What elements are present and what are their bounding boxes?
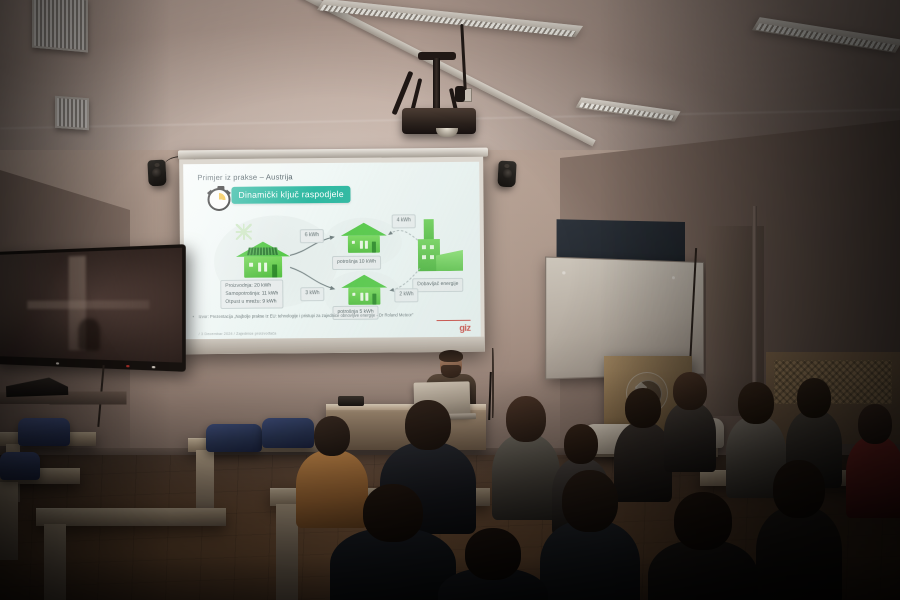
- audience-member: [756, 460, 842, 600]
- slide-title: Primjer iz prakse – Austrija: [197, 172, 293, 182]
- projection-screen: Primjer iz prakse – Austrija Dinamički k…: [179, 157, 485, 355]
- tv-person-reflection: [78, 318, 100, 351]
- flow-label-2kwh: 2 kWh: [394, 288, 418, 302]
- flow-label-6kwh: 6 kWh: [300, 229, 324, 243]
- wall-mounted-tv: [0, 244, 186, 372]
- projected-slide: Primjer iz prakse – Austrija Dinamički k…: [183, 162, 481, 340]
- energy-supplier-icon: [416, 219, 464, 271]
- hvac-vent-icon: [55, 96, 89, 130]
- sun-icon: [236, 224, 252, 240]
- speaker-left: [147, 160, 166, 187]
- footnote-bullet: •: [193, 314, 195, 319]
- desk-leg: [0, 482, 18, 560]
- slide-badge: Dinamički ključ raspodjele: [231, 186, 351, 204]
- consumer-house-1-icon: [341, 223, 387, 253]
- tv-screen: [0, 248, 182, 363]
- hvac-vent-icon: [32, 0, 88, 52]
- producer-house-icon: [236, 241, 290, 277]
- flow-label-4kwh: 4 kWh: [392, 214, 416, 228]
- logo-rule: [437, 319, 471, 321]
- tv-window-reflection: [27, 301, 149, 309]
- slide-page-numbers: / 3 Decembar 2024 / Zajednice proizvođač…: [199, 331, 277, 336]
- audience-member: [648, 492, 758, 600]
- energy-supplier-label: Dobavljač energije: [412, 278, 463, 292]
- consumer-house-1-label: potrošnja 10 kWh: [332, 256, 381, 270]
- flow-label-3kwh: 3 kWh: [300, 287, 324, 301]
- chair: [18, 418, 70, 446]
- tv-indicator-light: [56, 362, 59, 364]
- tv-power-led: [126, 365, 129, 367]
- consumer-house-2-icon: [341, 275, 387, 305]
- presenter-hair: [439, 350, 463, 362]
- stopwatch-icon: [207, 188, 230, 211]
- desk-object: [338, 396, 364, 406]
- audience-member: [664, 372, 716, 468]
- audience-member: [846, 404, 900, 514]
- desk-leg: [276, 504, 298, 600]
- wall-pipe: [752, 206, 757, 406]
- speaker-right: [497, 161, 516, 188]
- producer-house-label: Proizvodnja: 20 kWh Samopotrošnja: 11 kW…: [220, 279, 283, 309]
- audience-member: [540, 470, 640, 600]
- giz-logo: giz: [459, 323, 470, 333]
- audience-member: [438, 528, 548, 600]
- projector-mount-pole: [433, 58, 440, 110]
- tv-indicator-light: [152, 366, 156, 368]
- projector-cable-connector: [455, 86, 465, 102]
- chair: [0, 452, 40, 480]
- chair: [206, 424, 262, 452]
- lecture-hall-photo: Primjer iz prakse – Austrija Dinamički k…: [0, 0, 900, 600]
- presenter-beard: [441, 365, 461, 378]
- desk-leg: [44, 524, 66, 600]
